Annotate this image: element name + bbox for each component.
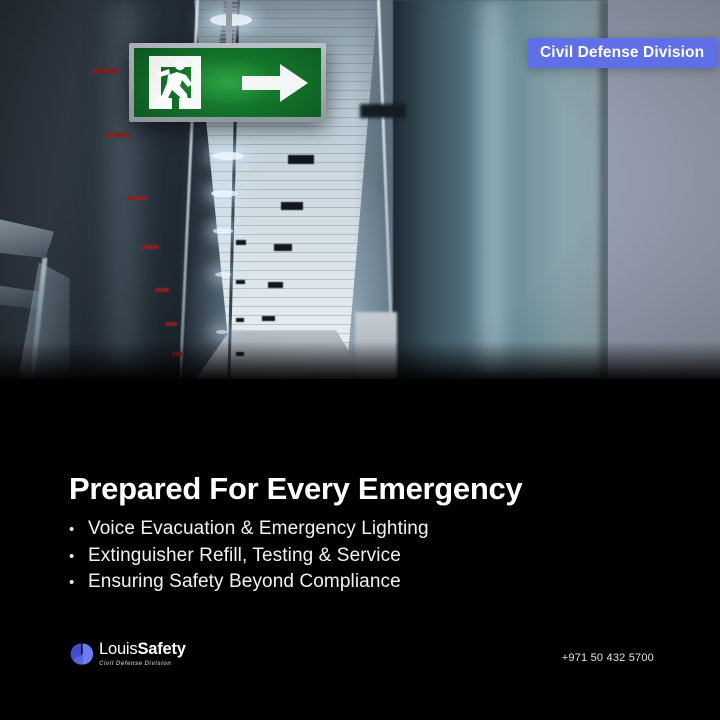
list-item: • Extinguisher Refill, Testing & Service [69,543,429,570]
sprinkler-pipe-mark-3 [127,196,147,200]
sprinkler-pipe-mark-5 [155,288,169,292]
service-list: • Voice Evacuation & Emergency Lighting … [69,516,429,596]
ceiling-bracket-1 [288,155,314,164]
sprinkler-pipe-mark-2 [106,133,130,137]
wall-right-notch [360,104,406,118]
exit-sign-hanger [226,0,232,46]
brand-name: LouisSafety [99,641,186,658]
ceiling-light-5 [215,272,231,277]
bullet-marker-icon: • [69,517,88,543]
brand-logo-text: LouisSafety Civil Defense Division [99,641,186,667]
status-badge-label: Civil Defense Division [540,44,704,62]
emergency-exit-sign [129,43,326,122]
sprinkler-pipe-mark-1 [91,69,119,73]
ceiling-bracket-2 [281,202,303,210]
corridor-photo: Civil Defense Division [0,0,720,379]
ceiling-bracket-5 [262,316,275,321]
list-item-label: Extinguisher Refill, Testing & Service [88,543,401,569]
sprinkler-pipe-mark-6 [165,322,177,326]
list-item-label: Ensuring Safety Beyond Compliance [88,569,401,595]
ceiling-light-3 [211,190,237,197]
status-badge[interactable]: Civil Defense Division [528,38,718,68]
contact-phone[interactable]: +971 50 432 5700 [562,652,654,664]
bullet-marker-icon: • [69,544,88,570]
ceiling-bracket-6 [236,240,246,245]
ceiling-light-6 [216,330,228,334]
list-item: • Ensuring Safety Beyond Compliance [69,569,429,596]
ceiling-bracket-8 [236,318,244,322]
ceiling-bracket-3 [274,244,292,251]
list-item: • Voice Evacuation & Emergency Lighting [69,516,429,543]
ceiling-bracket-7 [236,280,245,284]
brand-name-bold: Safety [137,640,185,658]
brand-tagline: Civil Defense Division [99,661,186,667]
ceiling-light-2 [212,152,244,160]
ceiling-bracket-4 [268,282,283,288]
poster-canvas: Civil Defense Division Prepared For Ever… [0,0,720,720]
bullet-marker-icon: • [69,570,88,596]
wall-right-highlight [470,0,516,379]
list-item-label: Voice Evacuation & Emergency Lighting [88,516,429,542]
arrow-right-icon [242,62,308,104]
ceiling-light-4 [213,228,233,234]
exit-sign-face [134,48,321,117]
photo-bottom-fade [0,341,720,379]
running-man-exit-icon [145,54,205,111]
brand-name-light: Louis [99,640,137,658]
sprinkler-pipe-mark-4 [142,245,159,249]
page-title: Prepared For Every Emergency [69,473,522,504]
brand-logo[interactable]: LouisSafety Civil Defense Division [70,641,186,667]
louis-safety-circle-mark-icon [70,642,94,666]
